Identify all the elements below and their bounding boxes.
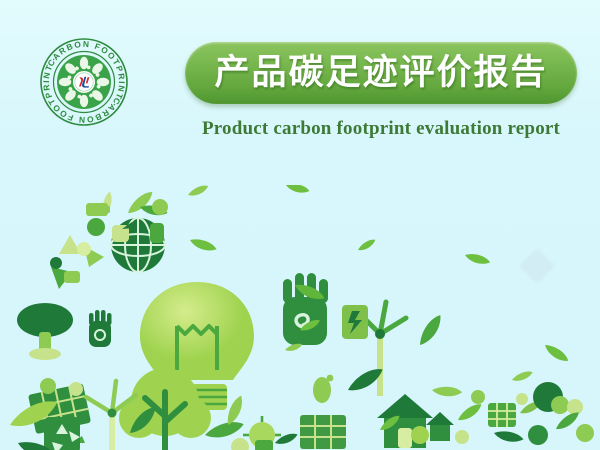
recycle-icon	[44, 417, 80, 450]
tree-icon	[17, 303, 73, 360]
eco-icon-footprint-collage	[0, 185, 600, 450]
leaf-icon	[543, 341, 570, 366]
hand-icon	[283, 273, 328, 345]
solar-panel-icon	[488, 403, 516, 427]
cover-page: CARBON FOOTPRINT · CARBON FOOTPRINT ·	[0, 0, 600, 450]
leaf-icon	[464, 250, 491, 268]
hand-icon	[89, 310, 112, 347]
recycle-icon	[50, 235, 104, 289]
water-drop-icon	[152, 199, 168, 215]
leaf-icon	[431, 384, 462, 399]
leaf-icon	[493, 427, 525, 446]
title-banner: 产品碳足迹评价报告	[185, 42, 577, 104]
leaf-icon	[414, 313, 446, 348]
leaf-icon	[189, 235, 218, 255]
leaf-icon	[187, 185, 210, 198]
tree-icon	[119, 368, 211, 450]
footprint-icon	[313, 375, 333, 403]
leaf-icon	[511, 370, 534, 383]
carbon-footprint-seal-logo: CARBON FOOTPRINT · CARBON FOOTPRINT ·	[38, 36, 130, 128]
solar-panel-icon	[300, 415, 346, 449]
tree-icon	[533, 382, 569, 414]
page-subtitle: Product carbon footprint evaluation repo…	[185, 118, 577, 140]
leaf-icon	[356, 238, 377, 252]
leaf-icon	[455, 402, 484, 423]
battery-icon	[86, 203, 108, 216]
leaf-icon	[285, 185, 310, 196]
page-title: 产品碳足迹评价报告	[214, 55, 547, 92]
